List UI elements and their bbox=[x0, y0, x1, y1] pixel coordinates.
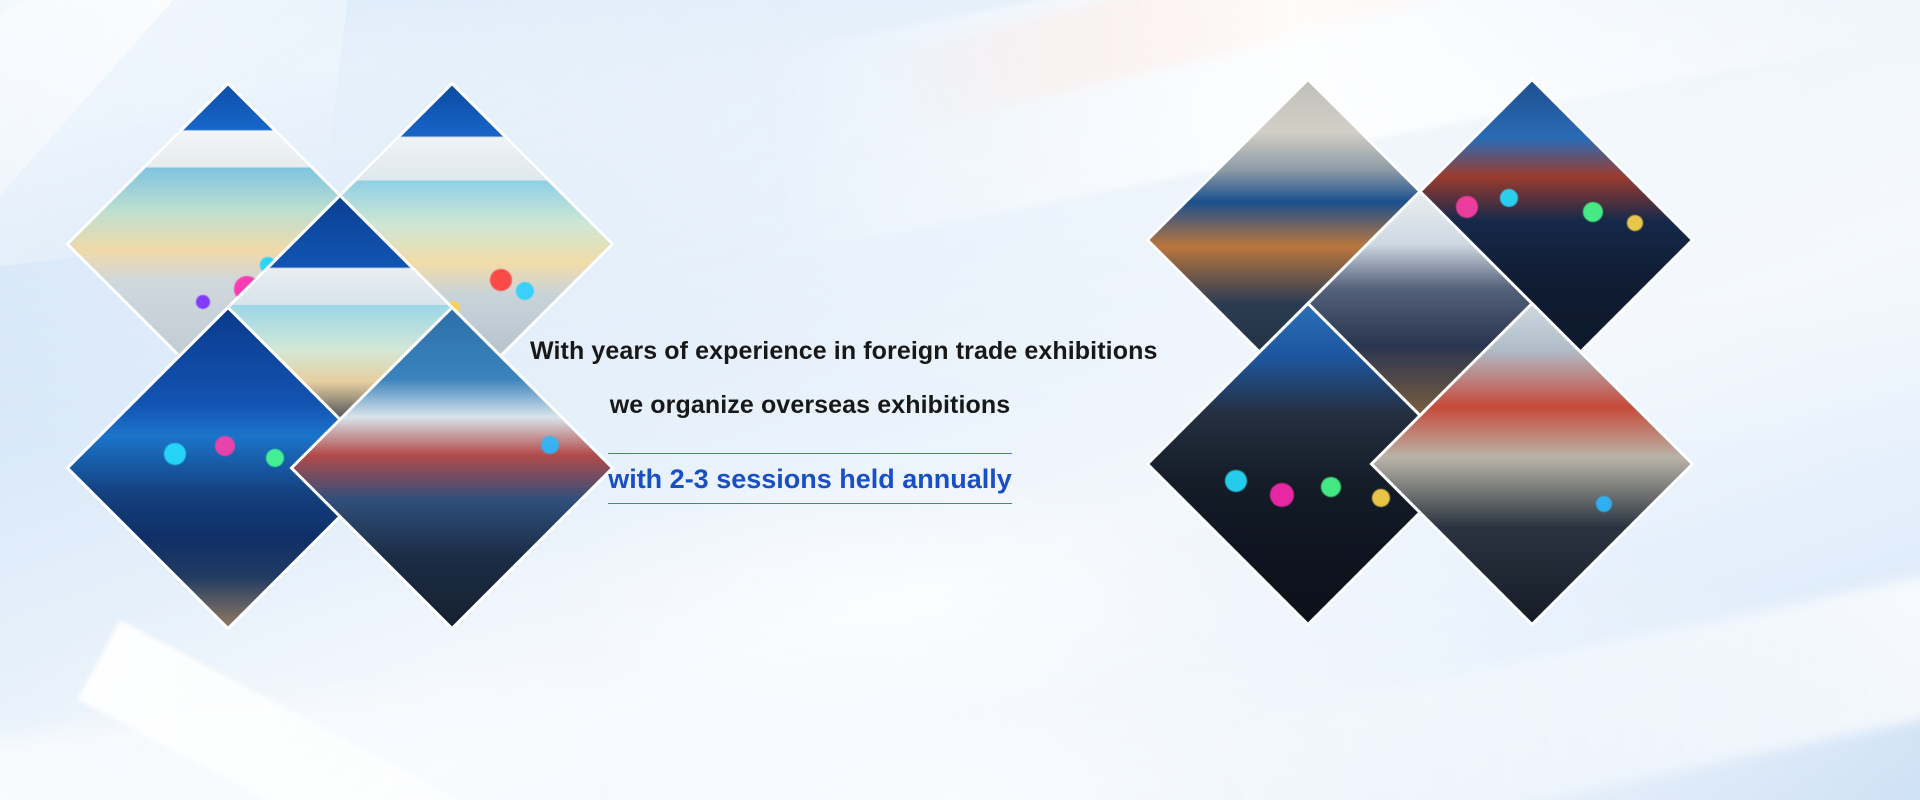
highlight-block: with 2-3 sessions held annually bbox=[604, 453, 1016, 504]
decorative-light-streak-bottom-left bbox=[78, 620, 915, 800]
headline-line-2: we organize overseas exhibitions bbox=[530, 392, 1090, 418]
highlight-rule-bottom bbox=[608, 503, 1012, 504]
headline-line-1: With years of experience in foreign trad… bbox=[530, 338, 1090, 364]
banner-copy: With years of experience in foreign trad… bbox=[530, 338, 1090, 504]
highlight-line: with 2-3 sessions held annually bbox=[608, 465, 1012, 493]
decorative-light-streak-pink bbox=[881, 0, 1580, 133]
banner-stage: With years of experience in foreign trad… bbox=[0, 0, 1920, 800]
highlight-rule-top bbox=[608, 453, 1012, 454]
decorative-glow-bottom-left bbox=[0, 652, 648, 800]
